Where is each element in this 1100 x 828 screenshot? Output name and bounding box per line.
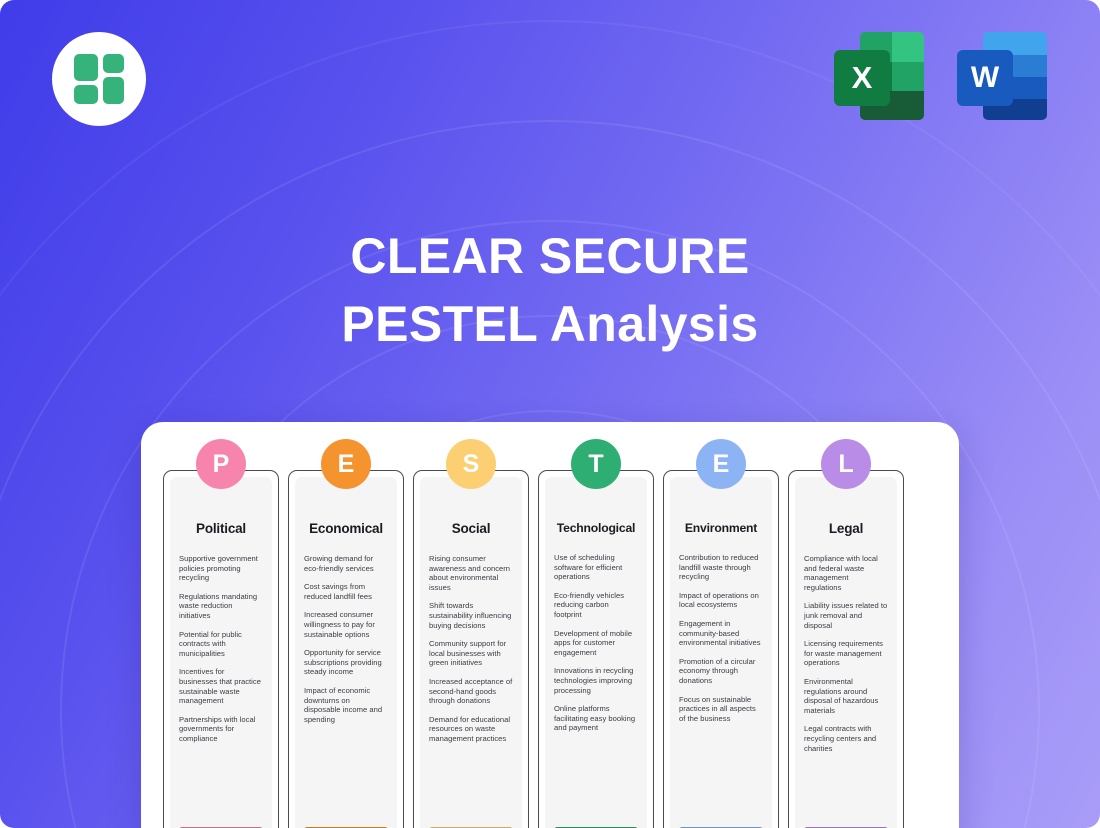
pestel-card-body: PoliticalSupportive government policies … [170, 477, 272, 828]
pestel-letter-badge: T [571, 439, 621, 489]
pestel-card-title: Social [429, 521, 513, 536]
pestel-letter-badge: L [821, 439, 871, 489]
pestel-point: Focus on sustainable practices in all as… [679, 695, 763, 724]
pestel-card-political[interactable]: PPoliticalSupportive government policies… [163, 470, 279, 828]
export-format-icons: X W [832, 28, 1050, 123]
pestel-point-list: Compliance with local and federal waste … [804, 554, 888, 762]
pestel-letter-badge: P [196, 439, 246, 489]
pestel-point: Liability issues related to junk removal… [804, 601, 888, 630]
pestel-point: Use of scheduling software for efficient… [554, 553, 638, 582]
pestel-point: Supportive government policies promoting… [179, 554, 263, 583]
page-title-line-2: PESTEL Analysis [0, 290, 1100, 358]
pestel-card-body: EconomicalGrowing demand for eco-friendl… [295, 477, 397, 828]
slide-canvas: X W CLEAR SECURE PESTEL Analysis PPoliti… [0, 0, 1100, 828]
pestel-point: Increased consumer willingness to pay fo… [304, 610, 388, 639]
pestel-point-list: Rising consumer awareness and concern ab… [429, 554, 513, 753]
logo-block [74, 85, 98, 104]
pestel-card-title: Legal [804, 521, 888, 536]
pestel-point: Environmental regulations around disposa… [804, 677, 888, 715]
pestel-card-body: EnvironmentContribution to reduced landf… [670, 477, 772, 828]
logo-block [103, 77, 124, 104]
pestel-card-body: SocialRising consumer awareness and conc… [420, 477, 522, 828]
pestel-card-title: Technological [554, 521, 638, 535]
pestel-card-row: PPoliticalSupportive government policies… [163, 470, 937, 828]
pestel-letter-badge: E [321, 439, 371, 489]
pestel-point: Development of mobile apps for customer … [554, 629, 638, 658]
pestel-point: Online platforms facilitating easy booki… [554, 704, 638, 733]
pestel-point: Contribution to reduced landfill waste t… [679, 553, 763, 582]
pestel-card-body: TechnologicalUse of scheduling software … [545, 477, 647, 828]
pestel-card-body: LegalCompliance with local and federal w… [795, 477, 897, 828]
excel-icon[interactable]: X [832, 28, 927, 123]
pestel-point-list: Contribution to reduced landfill waste t… [679, 553, 763, 732]
pestel-point: Compliance with local and federal waste … [804, 554, 888, 592]
pestel-point: Potential for public contracts with muni… [179, 630, 263, 659]
pestel-card-title: Economical [304, 521, 388, 536]
pestel-point: Innovations in recycling technologies im… [554, 666, 638, 695]
pestel-point: Regulations mandating waste reduction in… [179, 592, 263, 621]
logo-block [74, 54, 98, 81]
pestel-letter-badge: E [696, 439, 746, 489]
pestel-point: Cost savings from reduced landfill fees [304, 582, 388, 601]
app-grid-logo-icon [52, 32, 146, 126]
excel-icon-letter: X [834, 50, 890, 106]
logo-block [103, 54, 124, 73]
pestel-point: Growing demand for eco-friendly services [304, 554, 388, 573]
pestel-point: Eco-friendly vehicles reducing carbon fo… [554, 591, 638, 620]
word-icon-letter: W [957, 50, 1013, 106]
pestel-point: Demand for educational resources on wast… [429, 715, 513, 744]
page-title: CLEAR SECURE PESTEL Analysis [0, 222, 1100, 358]
logo-grid [74, 54, 124, 104]
pestel-point-list: Use of scheduling software for efficient… [554, 553, 638, 742]
pestel-point: Opportunity for service subscriptions pr… [304, 648, 388, 677]
pestel-card-title: Political [179, 521, 263, 536]
pestel-card-legal[interactable]: LLegalCompliance with local and federal … [788, 470, 904, 828]
pestel-point: Legal contracts with recycling centers a… [804, 724, 888, 753]
pestel-point: Partnerships with local governments for … [179, 715, 263, 744]
pestel-point: Engagement in community-based environmen… [679, 619, 763, 648]
pestel-point: Community support for local businesses w… [429, 639, 513, 668]
pestel-card-economical[interactable]: EEconomicalGrowing demand for eco-friend… [288, 470, 404, 828]
pestel-card-environment[interactable]: EEnvironmentContribution to reduced land… [663, 470, 779, 828]
pestel-letter-badge: S [446, 439, 496, 489]
word-icon[interactable]: W [955, 28, 1050, 123]
pestel-point: Shift towards sustainability influencing… [429, 601, 513, 630]
pestel-point: Impact of economic downturns on disposab… [304, 686, 388, 724]
pestel-point: Incentives for businesses that practice … [179, 667, 263, 705]
pestel-point-list: Growing demand for eco-friendly services… [304, 554, 388, 733]
pestel-point: Impact of operations on local ecosystems [679, 591, 763, 610]
pestel-point: Rising consumer awareness and concern ab… [429, 554, 513, 592]
pestel-point-list: Supportive government policies promoting… [179, 554, 263, 753]
pestel-card-social[interactable]: SSocialRising consumer awareness and con… [413, 470, 529, 828]
pestel-point: Increased acceptance of second-hand good… [429, 677, 513, 706]
pestel-panel: PPoliticalSupportive government policies… [141, 422, 959, 828]
pestel-point: Licensing requirements for waste managem… [804, 639, 888, 668]
page-title-line-1: CLEAR SECURE [0, 222, 1100, 290]
pestel-card-technological[interactable]: TTechnologicalUse of scheduling software… [538, 470, 654, 828]
pestel-point: Promotion of a circular economy through … [679, 657, 763, 686]
pestel-card-title: Environment [679, 521, 763, 535]
